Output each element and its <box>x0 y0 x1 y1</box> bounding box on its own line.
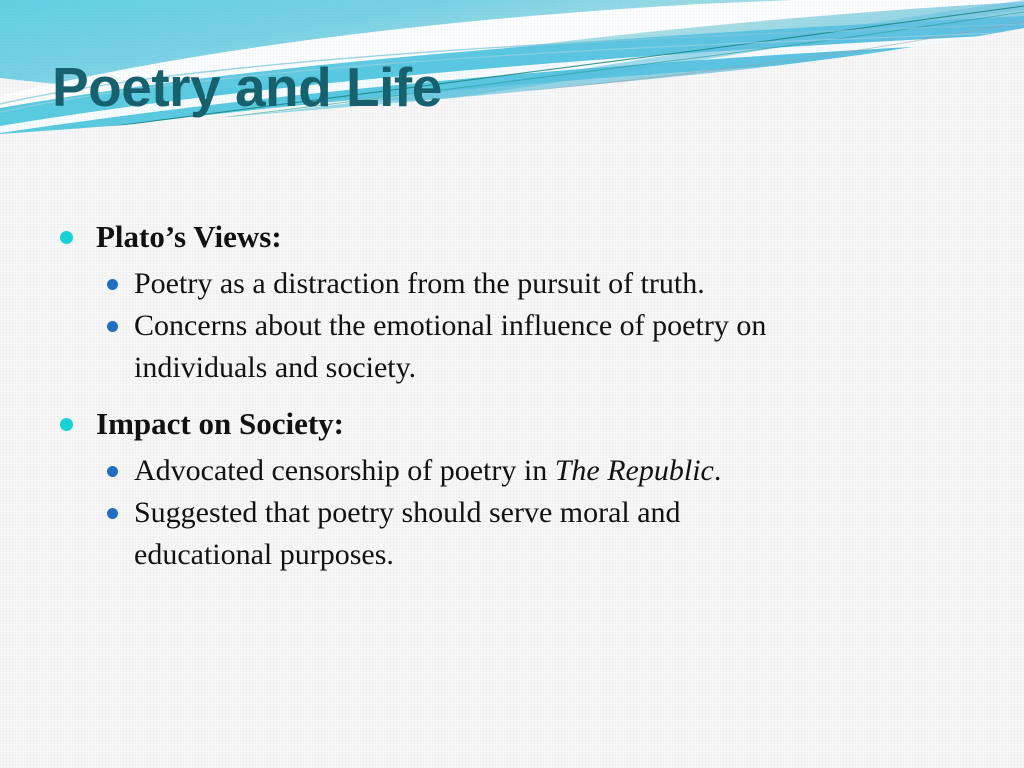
bullet-level2-line: Advocated censorship of poetry in The Re… <box>134 450 1022 492</box>
bullet-level1: Impact on Society: <box>0 401 1024 446</box>
slide: Poetry and Life Plato’s Views: Poetry as… <box>0 0 1024 768</box>
bullet-level2: Advocated censorship of poetry in The Re… <box>0 450 1024 492</box>
bullet-dot-level2-icon <box>107 279 118 290</box>
bullet-sublist: Poetry as a distraction from the pursuit… <box>0 263 1024 389</box>
slide-body: Plato’s Views: Poetry as a distraction f… <box>0 214 1024 576</box>
bullet-level1-label: Plato’s Views: <box>96 219 282 254</box>
bullet-level2: Poetry as a distraction from the pursuit… <box>0 263 1024 305</box>
bullet-level2-line: Poetry as a distraction from the pursuit… <box>134 263 1022 305</box>
bullet-dot-level1-icon <box>60 231 73 244</box>
bullet-dot-level2-icon <box>107 466 118 477</box>
bullet-sublist-container: Advocated censorship of poetry in The Re… <box>0 450 1024 576</box>
bullet-group-spacer <box>0 389 1024 401</box>
bullet-dot-level2-icon <box>107 508 118 519</box>
bullet-sublist-container: Poetry as a distraction from the pursuit… <box>0 263 1024 389</box>
book-title-italic: The Republic <box>555 454 714 487</box>
bullet-level2-line: Suggested that poetry should serve moral… <box>134 492 1022 534</box>
bullet-level2-line: Concerns about the emotional influence o… <box>134 305 1022 347</box>
bullet-text-before-title: Advocated censorship of poetry in <box>134 454 555 487</box>
bullet-sublist: Advocated censorship of poetry in The Re… <box>0 450 1024 576</box>
bullet-level2: Concerns about the emotional influence o… <box>0 305 1024 389</box>
bullet-list: Plato’s Views: Poetry as a distraction f… <box>0 214 1024 576</box>
bullet-level2: Suggested that poetry should serve moral… <box>0 492 1024 576</box>
bullet-dot-level2-icon <box>107 321 118 332</box>
bullet-level2-line: individuals and society. <box>134 347 1022 389</box>
bullet-text-after-title: . <box>714 454 722 487</box>
bullet-level1: Plato’s Views: <box>0 214 1024 259</box>
page-title: Poetry and Life <box>52 56 442 118</box>
bullet-level2-line: educational purposes. <box>134 534 1022 576</box>
bullet-level1-label: Impact on Society: <box>96 406 344 441</box>
bullet-dot-level1-icon <box>60 418 73 431</box>
